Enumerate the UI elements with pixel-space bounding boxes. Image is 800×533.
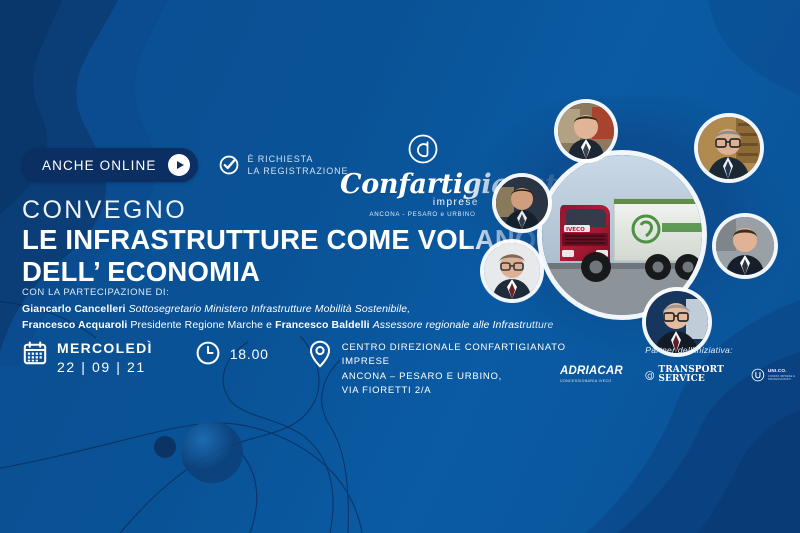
event-headline: LE INFRASTRUTTURE COME VOLANO DELL’ ECON… [22, 224, 537, 289]
event-banner: ANCHE ONLINE È RICHIESTA LA REGISTRAZION… [0, 0, 800, 533]
adriacar-subtitle: CONCESSIONARIA IVECO [560, 380, 623, 384]
partners-label: Partner dell’iniziativa: [560, 345, 800, 355]
svg-text:IVECO: IVECO [566, 227, 585, 233]
transport-service-logo-icon: TRANSPORT SERVICE [645, 366, 731, 384]
adriacar-name: ADRIACAR [560, 366, 623, 378]
unico-logo-icon: UNI.CO. CONFIDI IMPRESE E PROFESSIONISTI [751, 364, 800, 386]
partners-logo-row: ADRIACAR CONCESSIONARIA IVECO TRANSPORT … [560, 364, 800, 386]
registration-required-note: È RICHIESTA LA REGISTRAZIONE [218, 153, 348, 177]
portrait-speaker-1 [558, 103, 614, 159]
event-date: MERCOLEDÌ 22 | 09 | 21 [22, 340, 153, 376]
partners-section: Partner dell’iniziativa: ADRIACAR CONCES… [560, 345, 800, 386]
confartigianato-a-mark-icon [408, 134, 438, 164]
event-date-value: 22 | 09 | 21 [57, 358, 153, 376]
speakers-photo-cluster: IVECO [468, 95, 800, 365]
event-time-value: 18.00 [230, 346, 269, 362]
wave-shape-top-right [708, 0, 800, 96]
event-kicker: CONVEGNO [22, 196, 187, 225]
anche-online-button[interactable]: ANCHE ONLINE [22, 148, 198, 182]
calendar-icon [22, 340, 48, 366]
portrait-speaker-3 [484, 243, 540, 299]
headline-line-1: LE INFRASTRUTTURE COME VOLANO [22, 224, 537, 256]
registration-line-1: È RICHIESTA [247, 153, 348, 165]
clock-icon [195, 340, 221, 366]
participant-1-role: Sottosegretario Ministero Infrastrutture… [129, 303, 411, 315]
adriacar-logo-icon: ADRIACAR CONCESSIONARIA IVECO [560, 366, 623, 383]
play-icon[interactable] [168, 154, 190, 176]
portrait-speaker-2 [496, 177, 548, 229]
participant-2-role: Presidente Regione Marche e [130, 319, 272, 331]
transport-service-mark-icon [645, 368, 654, 383]
unico-mark-icon [751, 364, 765, 386]
registration-line-2: LA REGISTRAZIONE [247, 165, 348, 177]
portrait-speaker-6 [646, 291, 708, 353]
location-pin-icon [307, 340, 333, 368]
unico-subtitle: CONFIDI IMPRESE E PROFESSIONISTI [768, 375, 800, 381]
portrait-speaker-5 [716, 217, 774, 275]
event-day-label: MERCOLEDÌ [57, 340, 153, 358]
badge-row: ANCHE ONLINE È RICHIESTA LA REGISTRAZION… [22, 148, 348, 182]
transport-service-name: TRANSPORT SERVICE [658, 366, 731, 384]
event-time: 18.00 [195, 340, 269, 366]
check-circle-icon [218, 154, 240, 176]
unico-name: UNI.CO. [768, 368, 800, 374]
participant-2-name: Francesco Acquaroli [22, 319, 127, 331]
headline-line-2: DELL’ ECONOMIA [22, 256, 537, 288]
participant-3-name: Francesco Baldelli [275, 319, 370, 331]
participant-1-name: Giancarlo Cancelleri [22, 303, 126, 315]
anche-online-label: ANCHE ONLINE [42, 158, 156, 173]
portrait-speaker-4 [698, 117, 760, 179]
